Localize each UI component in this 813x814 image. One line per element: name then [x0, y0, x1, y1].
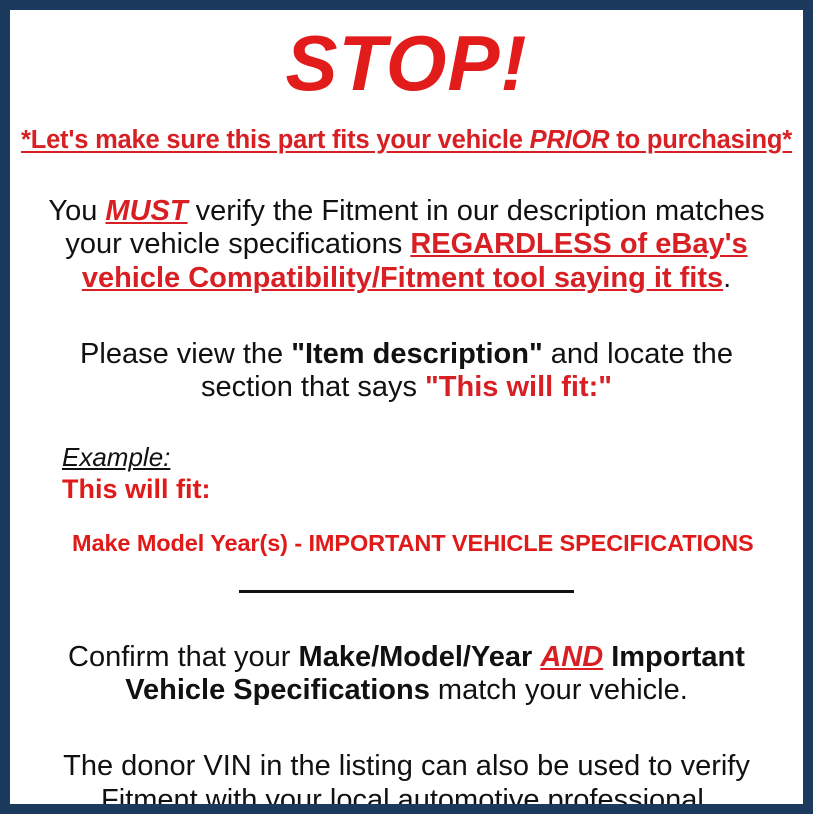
- confirm-part-1: Confirm that your: [68, 641, 298, 673]
- subheadline: *Let's make sure this part fits your veh…: [18, 126, 795, 155]
- example-label: Example:: [62, 443, 170, 472]
- donor-vin-paragraph: The donor VIN in the listing can also be…: [18, 750, 795, 814]
- fitment-notice-card: STOP! *Let's make sure this part fits yo…: [0, 0, 813, 814]
- view-description-paragraph: Please view the "Item description" and l…: [18, 338, 795, 405]
- divider-wrap: [18, 583, 795, 601]
- subheadline-lead: *Let's make sure this part fits your veh…: [21, 126, 530, 154]
- must-emphasis-word: MUST: [105, 195, 187, 227]
- example-label-row: Example:: [62, 443, 795, 472]
- must-verify-paragraph: You MUST verify the Fitment in our descr…: [18, 195, 795, 296]
- subheadline-emphasis-prior: PRIOR: [530, 126, 610, 154]
- example-fit-header: This will fit:: [62, 474, 795, 504]
- confirm-paragraph: Confirm that your Make/Model/Year AND Im…: [18, 641, 795, 708]
- subheadline-tail: to purchasing*: [609, 126, 792, 154]
- example-spec-line: Make Model Year(s) - IMPORTANT VEHICLE S…: [62, 530, 795, 556]
- must-part-1: You: [48, 195, 105, 227]
- page-title: STOP!: [18, 10, 795, 104]
- confirm-part-2: match your vehicle.: [430, 674, 688, 706]
- make-model-year-bold: Make/Model/Year: [299, 641, 541, 673]
- example-block: Example: This will fit: Make Model Year(…: [18, 443, 795, 557]
- horizontal-rule-icon: [239, 590, 574, 593]
- view-part-1: Please view the: [80, 338, 291, 370]
- this-will-fit-quote: "This will fit:": [425, 371, 612, 403]
- and-emphasis-word: AND: [540, 641, 603, 673]
- item-description-label: "Item description": [291, 338, 542, 370]
- notice-content-area: STOP! *Let's make sure this part fits yo…: [10, 10, 803, 804]
- must-part-3: .: [723, 262, 731, 294]
